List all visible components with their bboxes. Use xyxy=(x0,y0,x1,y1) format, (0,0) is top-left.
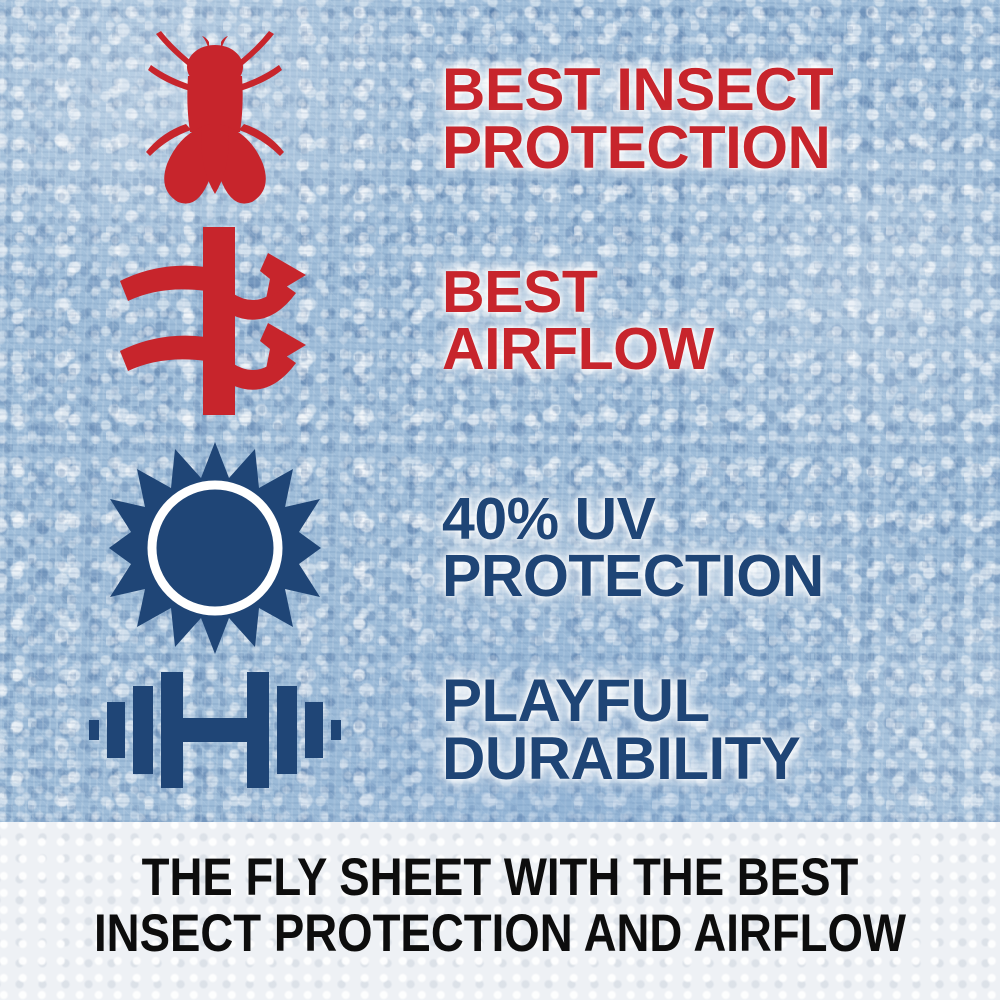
feature-label-airflow: BEST AIRFLOW xyxy=(442,264,1000,377)
icon-cell-airflow xyxy=(0,223,430,419)
text-cell-durability: PLAYFUL DURABILITY xyxy=(430,672,1000,787)
text-cell-uv-protection: 40% UV PROTECTION xyxy=(430,491,1000,604)
feature-label-durability: PLAYFUL DURABILITY xyxy=(442,672,1000,787)
feature-row-durability: PLAYFUL DURABILITY xyxy=(0,655,1000,805)
poster-caption: THE FLY SHEET WITH THE BEST INSECT PROTE… xyxy=(70,850,930,962)
sun-icon xyxy=(109,442,321,654)
fly-icon xyxy=(140,28,290,210)
icon-cell-durability xyxy=(0,664,430,796)
feature-row-insect-protection: BEST INSECT PROTECTION xyxy=(0,28,1000,210)
caption-band: THE FLY SHEET WITH THE BEST INSECT PROTE… xyxy=(0,822,1000,1000)
icon-cell-insect-protection xyxy=(0,28,430,210)
feature-row-uv-protection: 40% UV PROTECTION xyxy=(0,437,1000,659)
text-cell-insect-protection: BEST INSECT PROTECTION xyxy=(430,61,1000,176)
text-cell-airflow: BEST AIRFLOW xyxy=(430,264,1000,377)
airflow-arrows-icon xyxy=(110,223,320,419)
feature-label-uv-protection: 40% UV PROTECTION xyxy=(442,491,1000,604)
feature-label-insect-protection: BEST INSECT PROTECTION xyxy=(442,61,1000,176)
product-feature-poster: BEST INSECT PROTECTION xyxy=(0,0,1000,1000)
feature-row-airflow: BEST AIRFLOW xyxy=(0,218,1000,423)
icon-cell-uv-protection xyxy=(0,442,430,654)
dumbbell-icon xyxy=(87,664,343,796)
